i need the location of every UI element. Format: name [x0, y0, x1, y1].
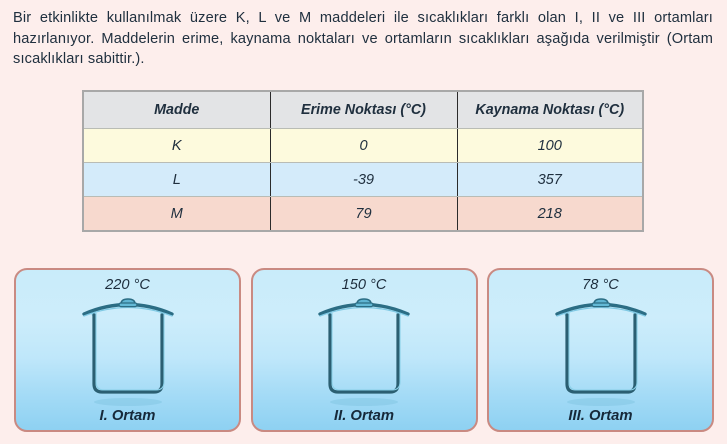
- cell-erime: 0: [270, 129, 457, 163]
- table-row: L -39 357: [83, 163, 643, 197]
- column-header-madde: Madde: [83, 91, 270, 129]
- environments-row: 220 °C I. Ortam 150 °C: [14, 268, 714, 434]
- cell-erime: 79: [270, 197, 457, 232]
- environment-temperature: 150 °C: [253, 277, 476, 293]
- column-header-kaynama-noktasi: Kaynama Noktası (°C): [457, 91, 643, 129]
- pot-with-lid-icon: [541, 298, 661, 408]
- cell-kaynama: 357: [457, 163, 643, 197]
- cell-kaynama: 100: [457, 129, 643, 163]
- environment-caption: III. Ortam: [489, 408, 712, 424]
- environment-panel-2: 150 °C II. Ortam: [251, 268, 478, 432]
- cell-madde: L: [83, 163, 270, 197]
- column-header-erime-noktasi: Erime Noktası (°C): [270, 91, 457, 129]
- table-header-row: Madde Erime Noktası (°C) Kaynama Noktası…: [83, 91, 643, 129]
- environment-panel-1: 220 °C I. Ortam: [14, 268, 241, 432]
- table-row: K 0 100: [83, 129, 643, 163]
- table-row: M 79 218: [83, 197, 643, 232]
- environment-panel-3: 78 °C III. Ortam: [487, 268, 714, 432]
- cell-madde: M: [83, 197, 270, 232]
- pot-with-lid-icon: [68, 298, 188, 408]
- environment-caption: I. Ortam: [16, 408, 239, 424]
- cell-madde: K: [83, 129, 270, 163]
- environment-temperature: 220 °C: [16, 277, 239, 293]
- cell-erime: -39: [270, 163, 457, 197]
- properties-table: Madde Erime Noktası (°C) Kaynama Noktası…: [82, 90, 644, 232]
- pot-with-lid-icon: [304, 298, 424, 408]
- environment-temperature: 78 °C: [489, 277, 712, 293]
- intro-paragraph: Bir etkinlikte kullanılmak üzere K, L ve…: [13, 8, 713, 70]
- cell-kaynama: 218: [457, 197, 643, 232]
- environment-caption: II. Ortam: [253, 408, 476, 424]
